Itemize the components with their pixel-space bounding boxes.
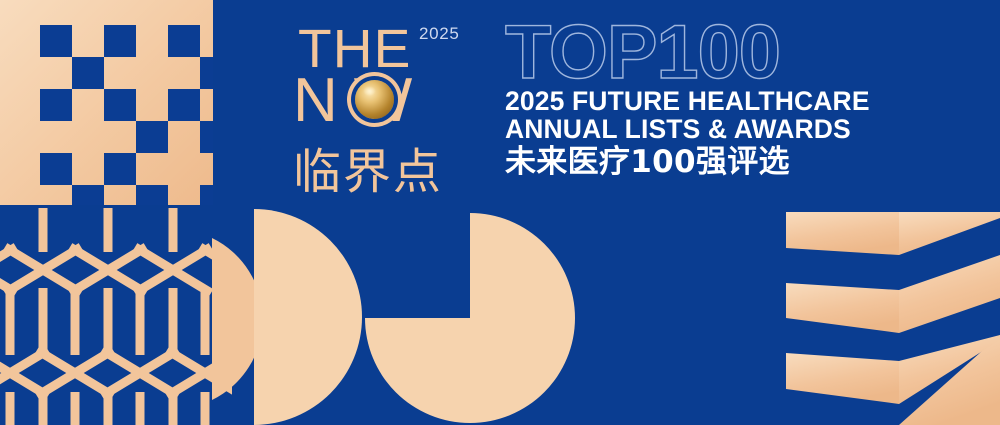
logo-chinese-linjiedian: 临界点	[293, 132, 443, 202]
checkerboard-pattern	[0, 0, 232, 217]
gold-orb-highlight	[363, 86, 376, 96]
headline-top100: TOP100	[505, 20, 975, 85]
headline-english-line2: ANNUAL LISTS & AWARDS	[505, 115, 975, 143]
the-now-logo: THE 2025 N W 临界点	[293, 22, 493, 197]
logo-now-row: N W	[293, 70, 493, 128]
banner-root: THE 2025 N W 临界点 TOP100 2025 FUTURE HEAL…	[0, 0, 1000, 425]
logo-year-2025: 2025	[419, 24, 460, 44]
diagonal-stripes-left	[786, 212, 899, 404]
headline-block: TOP100 2025 FUTURE HEALTHCARE ANNUAL LIS…	[505, 20, 975, 179]
gold-orb-icon	[355, 80, 394, 119]
headline-chinese: 未来医疗100强评选	[505, 145, 975, 180]
headline-english-line1: 2025 FUTURE HEALTHCARE	[505, 87, 975, 115]
